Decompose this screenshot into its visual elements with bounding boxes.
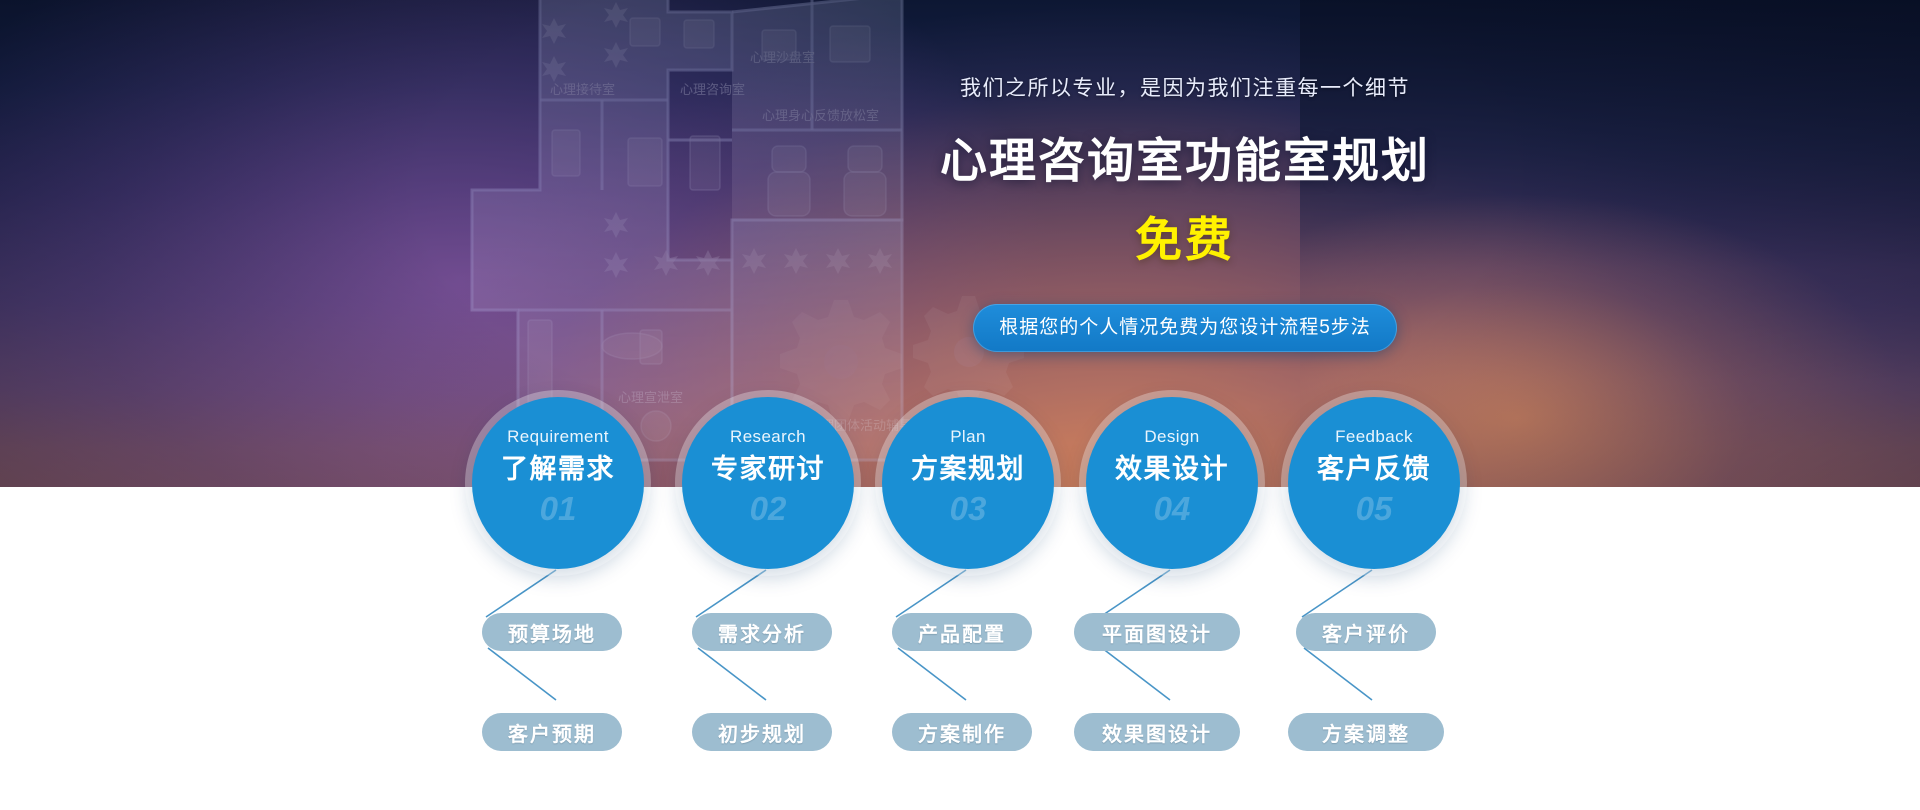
step-circle-1[interactable]: Requirement 了解需求 01 (472, 397, 644, 569)
step-cn-label: 了解需求 (501, 456, 615, 483)
step-circle-4[interactable]: Design 效果设计 04 (1086, 397, 1258, 569)
free-highlight: 免费 (905, 201, 1465, 270)
cta-button[interactable]: 根据您的个人情况免费为您设计流程5步法 (973, 304, 1397, 352)
step-en-label: Plan (950, 428, 986, 445)
step-en-label: Feedback (1335, 428, 1413, 445)
step-cn-label: 效果设计 (1115, 456, 1229, 483)
step-circle-3[interactable]: Plan 方案规划 03 (882, 397, 1054, 569)
step-cn-label: 方案规划 (911, 456, 1025, 483)
step-circle-5[interactable]: Feedback 客户反馈 05 (1288, 397, 1460, 569)
step-en-label: Design (1144, 428, 1199, 445)
headline-block: 我们之所以专业，是因为我们注重每一个细节 心理咨询室功能室规划 免费 根据您的个… (905, 72, 1465, 352)
step-en-label: Requirement (507, 428, 609, 445)
step-circle-2[interactable]: Research 专家研讨 02 (682, 397, 854, 569)
step-number: 04 (1154, 492, 1191, 525)
hero-banner: 心理接待室 心理咨询室 心理沙盘室 心理身心反馈放松室 心理宣泄室 心理团体活动… (0, 0, 1920, 810)
hero-kicker: 我们之所以专业，是因为我们注重每一个细节 (905, 72, 1465, 102)
step-number: 01 (540, 492, 577, 525)
step-number: 03 (950, 492, 987, 525)
step-cn-label: 专家研讨 (711, 456, 825, 483)
page-title: 心理咨询室功能室规划 (905, 122, 1465, 191)
step-number: 05 (1356, 492, 1393, 525)
step-number: 02 (750, 492, 787, 525)
step-cn-label: 客户反馈 (1317, 456, 1431, 483)
step-en-label: Research (730, 428, 806, 445)
